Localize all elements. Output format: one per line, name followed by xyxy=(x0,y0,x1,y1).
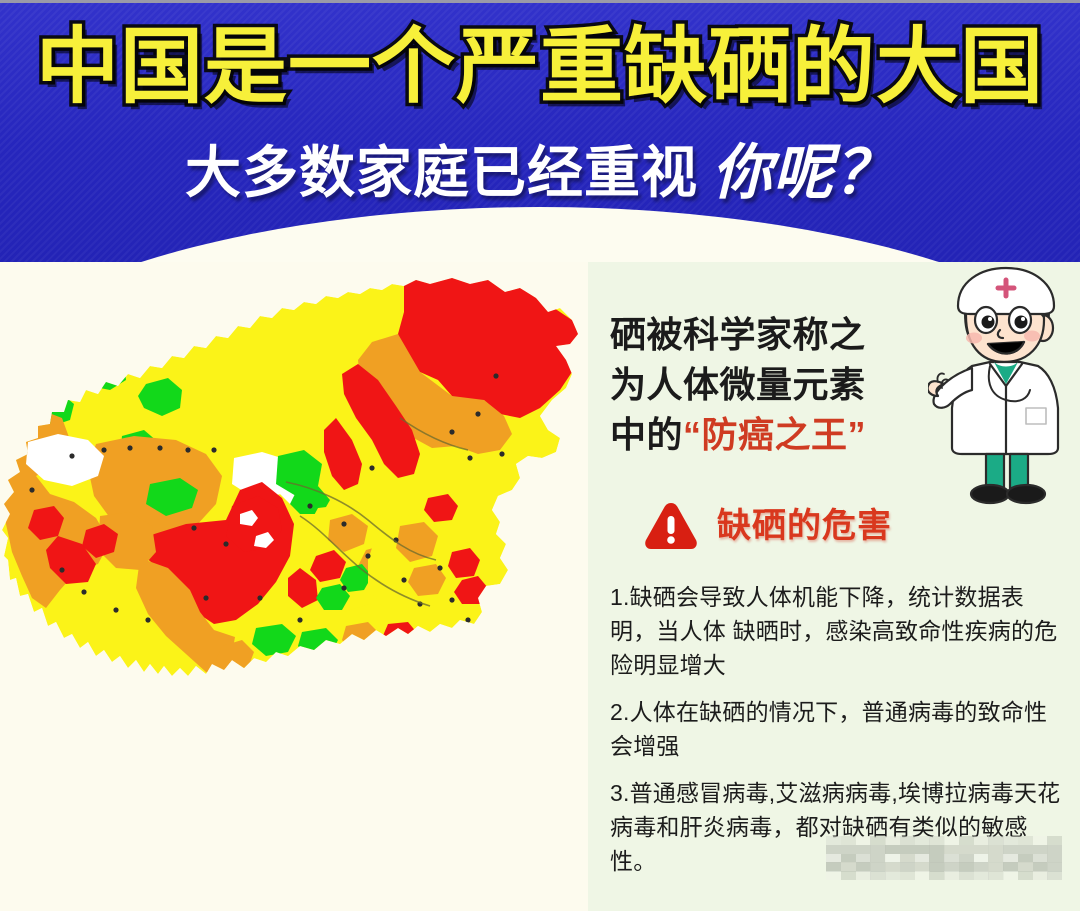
map-panel: 缺硒病经常发生的地区 严重缺硒地区 缺硒地区 不缺硒地区 无数据地区 人类的癌症… xyxy=(0,262,588,911)
page-subtitle: 大多数家庭已经重视你呢？ xyxy=(0,143,1080,203)
heading-line-1: 硒被科学家称之 xyxy=(610,310,940,360)
heading-line-3-prefix: 中的 xyxy=(610,414,683,455)
quote-close: ” xyxy=(848,414,867,455)
poster-root: 中国是一个严重缺硒的大国 大多数家庭已经重视你呢？ xyxy=(0,0,1080,911)
quote-open: “ xyxy=(683,414,702,455)
warning-paragraph-2: 2.人体在缺硒的情况下，普通病毒的致命性会增强 xyxy=(610,695,1062,763)
map-fill-group xyxy=(0,268,588,738)
page-subtitle-emphasis: 你呢？ xyxy=(712,139,895,206)
heading-highlight: 防癌之王 xyxy=(702,414,848,455)
warning-paragraph-1: 1.缺硒会导致人体机能下降，统计数据表明，当人体 缺晒时，感染高致命性疾病的危险… xyxy=(610,580,1062,682)
warning-body: 1.缺硒会导致人体机能下降，统计数据表明，当人体 缺晒时，感染高致命性疾病的危险… xyxy=(610,580,1062,878)
selenium-heading: 硒被科学家称之 为人体微量元素 中的“防癌之王” xyxy=(610,310,940,460)
heading-line-3: 中的“防癌之王” xyxy=(610,410,940,460)
header-banner: 中国是一个严重缺硒的大国 大多数家庭已经重视你呢？ xyxy=(0,3,1080,262)
cartoon-doctor-illustration xyxy=(928,262,1078,512)
page-subtitle-main: 大多数家庭已经重视 xyxy=(185,141,698,204)
warning-title: 缺硒的危害 xyxy=(717,509,892,543)
china-selenium-map xyxy=(0,268,588,738)
warning-header: 缺硒的危害 xyxy=(643,500,892,552)
warning-triangle-icon xyxy=(643,500,699,552)
page-title: 中国是一个严重缺硒的大国 xyxy=(0,25,1080,108)
china-map-svg xyxy=(0,268,588,738)
doctor-svg xyxy=(928,262,1078,512)
heading-line-2: 为人体微量元素 xyxy=(610,360,940,410)
info-panel: 硒被科学家称之 为人体微量元素 中的“防癌之王” 缺硒的危害 1.缺硒会导致人体… xyxy=(588,262,1080,911)
mosaic-watermark xyxy=(826,836,1062,880)
